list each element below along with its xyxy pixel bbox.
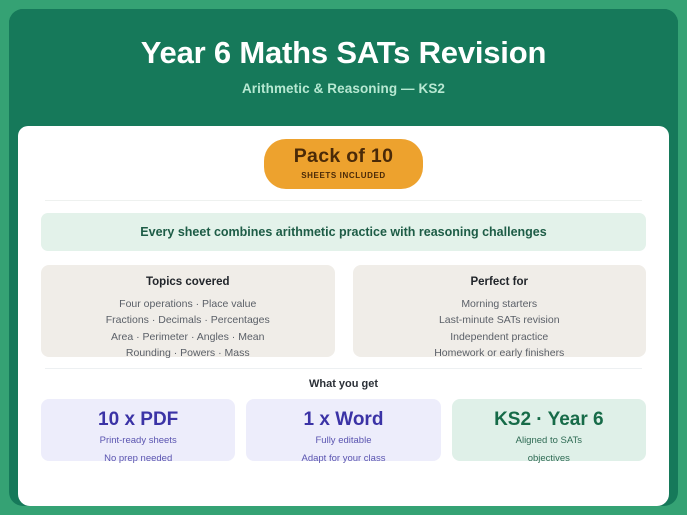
get-card-title: 10 x PDF — [47, 410, 229, 429]
info-card-line: Fractions · Decimals · Percentages — [51, 312, 325, 329]
info-card-line: Homework or early finishers — [363, 345, 637, 362]
info-card-row: Topics covered Four operations · Place v… — [41, 265, 646, 357]
pack-badge-subtitle: SHEETS INCLUDED — [294, 172, 393, 180]
info-card-perfect-for: Perfect for Morning starters Last-minute… — [353, 265, 647, 357]
badge-row: Pack of 10 SHEETS INCLUDED — [37, 126, 650, 189]
get-card-ks2: KS2 · Year 6 Aligned to SATs objectives — [452, 399, 646, 461]
get-card-line: No prep needed — [47, 452, 229, 466]
info-card-line: Morning starters — [363, 296, 637, 313]
get-card-title: 1 x Word — [252, 410, 434, 429]
pack-badge-title: Pack of 10 — [294, 147, 393, 167]
divider-top — [45, 200, 642, 201]
get-card-line: objectives — [458, 452, 640, 466]
poster-frame: Year 6 Maths SATs Revision Arithmetic & … — [0, 0, 687, 515]
get-card-title: KS2 · Year 6 — [458, 410, 640, 429]
get-card-line: Print-ready sheets — [47, 434, 229, 448]
page-subtitle: Arithmetic & Reasoning — KS2 — [9, 81, 678, 96]
info-card-line: Last-minute SATs revision — [363, 312, 637, 329]
info-card-line: Four operations · Place value — [51, 296, 325, 313]
get-card-pdf: 10 x PDF Print-ready sheets No prep need… — [41, 399, 235, 461]
poster-inner: Year 6 Maths SATs Revision Arithmetic & … — [9, 9, 678, 506]
poster-header: Year 6 Maths SATs Revision Arithmetic & … — [9, 9, 678, 126]
info-card-topics: Topics covered Four operations · Place v… — [41, 265, 335, 357]
get-card-line: Adapt for your class — [252, 452, 434, 466]
what-you-get-label: What you get — [37, 378, 650, 390]
info-card-line: Rounding · Powers · Mass — [51, 345, 325, 362]
highlight-strip: Every sheet combines arithmetic practice… — [41, 213, 646, 251]
info-card-line: Area · Perimeter · Angles · Mean — [51, 329, 325, 346]
page-title: Year 6 Maths SATs Revision — [9, 35, 678, 71]
poster-body: Pack of 10 SHEETS INCLUDED Every sheet c… — [18, 126, 669, 506]
get-card-word: 1 x Word Fully editable Adapt for your c… — [246, 399, 440, 461]
divider-bottom — [45, 368, 642, 369]
what-you-get-row: 10 x PDF Print-ready sheets No prep need… — [41, 399, 646, 461]
pack-badge: Pack of 10 SHEETS INCLUDED — [264, 139, 423, 189]
get-card-line: Fully editable — [252, 434, 434, 448]
highlight-text: Every sheet combines arithmetic practice… — [140, 225, 546, 239]
info-card-title: Topics covered — [51, 276, 325, 288]
info-card-line: Independent practice — [363, 329, 637, 346]
get-card-line: Aligned to SATs — [458, 434, 640, 448]
info-card-title: Perfect for — [363, 276, 637, 288]
